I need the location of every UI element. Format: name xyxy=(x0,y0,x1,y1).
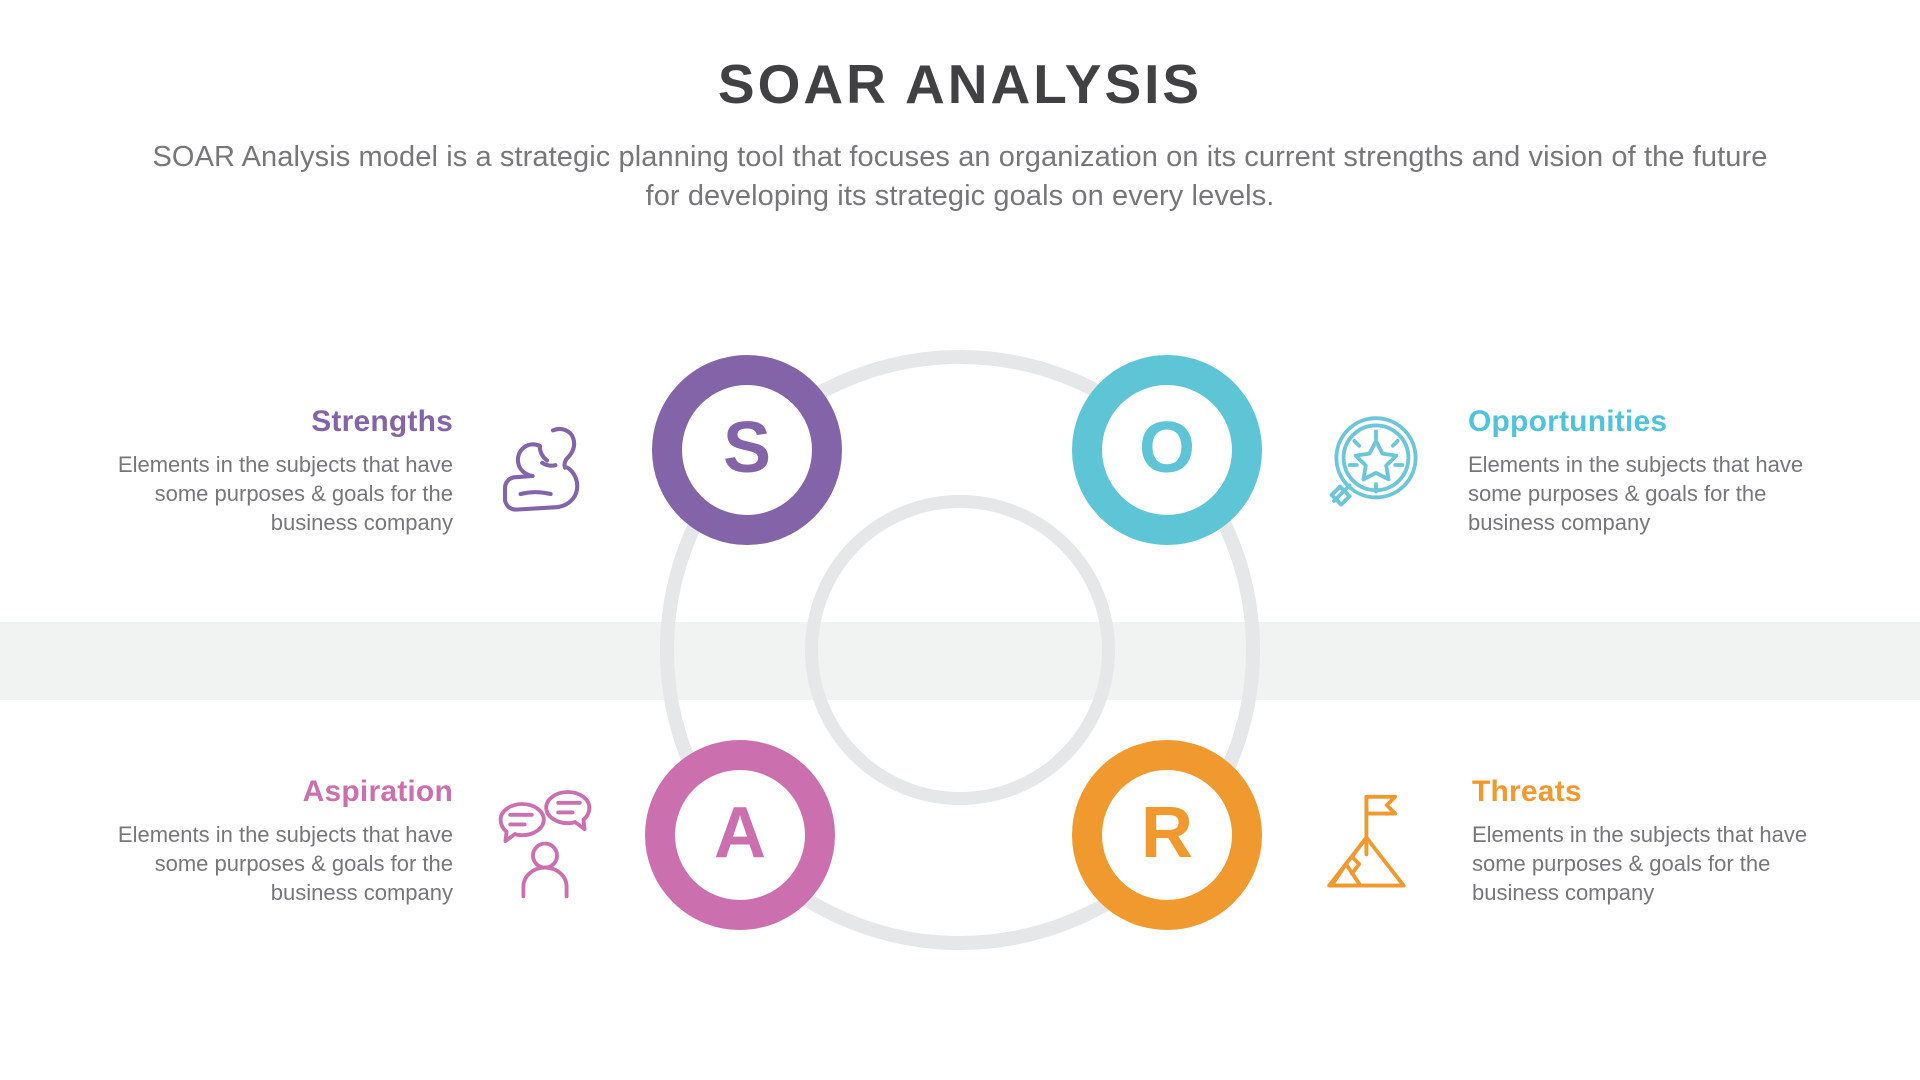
info-block-threats: Threats Elements in the subjects that ha… xyxy=(1472,775,1812,907)
letter-circle-opportunities[interactable]: O xyxy=(1072,355,1262,545)
letter-circle-aspiration[interactable]: A xyxy=(645,740,835,930)
letter-glyph-r: R xyxy=(1141,797,1193,869)
header: SOAR ANALYSIS SOAR Analysis model is a s… xyxy=(0,0,1920,216)
muscle-arm-icon xyxy=(487,410,607,530)
description-aspiration: Elements in the subjects that have some … xyxy=(113,820,453,908)
letter-circle-threats[interactable]: R xyxy=(1072,740,1262,930)
letter-glyph-a: A xyxy=(714,797,766,869)
page-subtitle: SOAR Analysis model is a strategic plann… xyxy=(150,138,1770,216)
page-title: SOAR ANALYSIS xyxy=(0,56,1920,114)
inner-ring xyxy=(805,495,1115,805)
description-strengths: Elements in the subjects that have some … xyxy=(113,450,453,538)
heading-aspiration: Aspiration xyxy=(113,775,453,810)
heading-threats: Threats xyxy=(1472,775,1812,810)
info-block-aspiration: Aspiration Elements in the subjects that… xyxy=(113,775,453,907)
mountain-flag-icon xyxy=(1310,780,1430,900)
heading-opportunities: Opportunities xyxy=(1468,405,1808,440)
letter-circle-strengths[interactable]: S xyxy=(652,355,842,545)
info-block-strengths: Strengths Elements in the subjects that … xyxy=(113,405,453,537)
magnifier-star-icon xyxy=(1310,405,1430,525)
info-block-opportunities: Opportunities Elements in the subjects t… xyxy=(1468,405,1808,537)
letter-glyph-s: S xyxy=(723,412,771,484)
description-opportunities: Elements in the subjects that have some … xyxy=(1468,450,1808,538)
soar-analysis-infographic: SOAR ANALYSIS SOAR Analysis model is a s… xyxy=(0,0,1920,1080)
person-speech-bubbles-icon xyxy=(485,780,605,900)
heading-strengths: Strengths xyxy=(113,405,453,440)
letter-glyph-o: O xyxy=(1139,412,1195,484)
description-threats: Elements in the subjects that have some … xyxy=(1472,820,1812,908)
